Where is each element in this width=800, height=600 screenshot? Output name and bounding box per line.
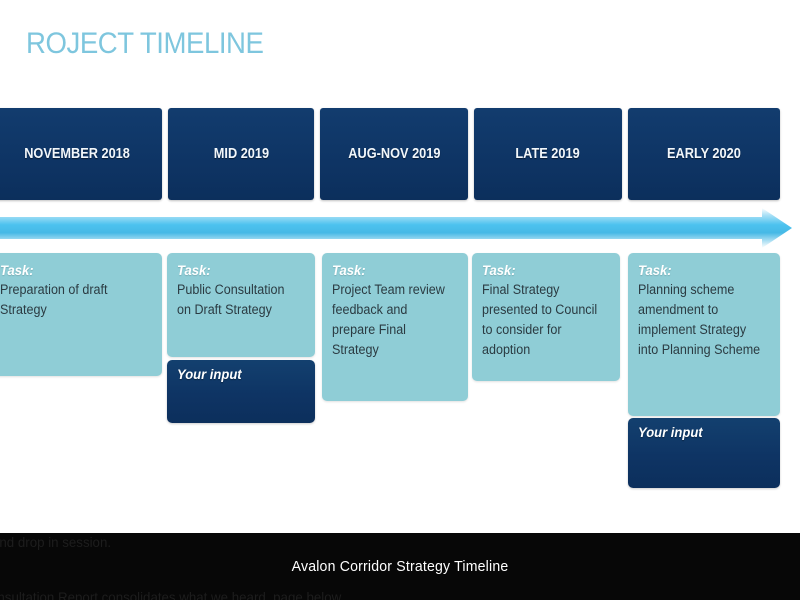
- task-body-3: Final Strategy presented to Council to c…: [482, 280, 601, 360]
- timeline-header-2[interactable]: AUG-NOV 2019: [320, 108, 468, 200]
- your-input-box-1[interactable]: Your input: [167, 360, 315, 423]
- task-label-0: Task:: [0, 262, 141, 279]
- task-body-0: Preparation of draft Strategy: [0, 280, 141, 320]
- page-title: ROJECT TIMELINE: [26, 27, 263, 61]
- timeline-header-3[interactable]: LATE 2019: [474, 108, 622, 200]
- timeline-slide: ROJECT TIMELINE NOVEMBER 2018 MID 2019 A…: [0, 0, 800, 533]
- task-label-4: Task:: [638, 262, 761, 279]
- timeline-header-label-1: MID 2019: [213, 146, 268, 162]
- your-input-box-4[interactable]: Your input: [628, 418, 780, 488]
- task-body-4: Planning scheme amendment to implement S…: [638, 280, 761, 360]
- timeline-header-label-4: EARLY 2020: [667, 146, 741, 162]
- timeline-arrow-icon: [0, 206, 800, 250]
- task-body-2: Project Team review feedback and prepare…: [332, 280, 449, 360]
- task-label-2: Task:: [332, 262, 449, 279]
- task-body-1: Public Consultation on Draft Strategy: [177, 280, 296, 320]
- timeline-header-label-2: AUG-NOV 2019: [348, 146, 440, 162]
- caption-bar: and drop in session. onsultation Report …: [0, 533, 800, 600]
- your-input-label-4: Your input: [638, 424, 703, 440]
- timeline-header-label-0: NOVEMBER 2018: [24, 146, 130, 162]
- task-card-2[interactable]: Task: Project Team review feedback and p…: [322, 253, 468, 401]
- your-input-label-1: Your input: [177, 366, 242, 382]
- caption-text: Avalon Corridor Strategy Timeline: [24, 533, 776, 600]
- task-card-3[interactable]: Task: Final Strategy presented to Counci…: [472, 253, 620, 381]
- timeline-header-1[interactable]: MID 2019: [168, 108, 314, 200]
- task-card-0[interactable]: Task: Preparation of draft Strategy: [0, 253, 162, 376]
- timeline-header-label-3: LATE 2019: [516, 146, 580, 162]
- task-label-1: Task:: [177, 262, 296, 279]
- timeline-header-0[interactable]: NOVEMBER 2018: [0, 108, 162, 200]
- task-card-4[interactable]: Task: Planning scheme amendment to imple…: [628, 253, 780, 416]
- task-card-1[interactable]: Task: Public Consultation on Draft Strat…: [167, 253, 315, 357]
- task-label-3: Task:: [482, 262, 601, 279]
- timeline-header-4[interactable]: EARLY 2020: [628, 108, 780, 200]
